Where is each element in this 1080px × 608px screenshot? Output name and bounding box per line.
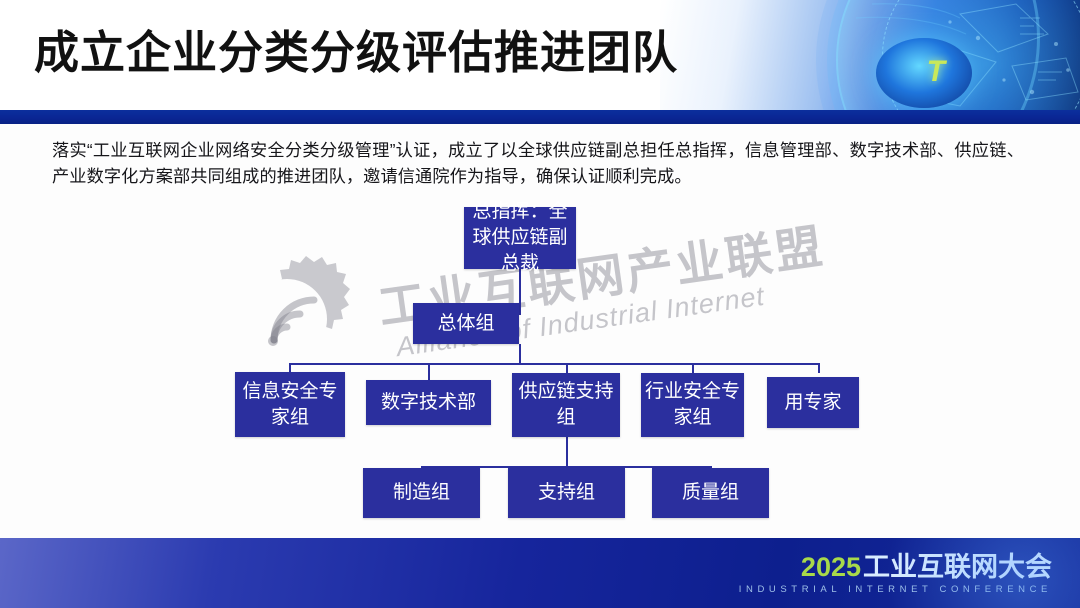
conference-logo-main: 2025工业互联网大会 [739,552,1052,582]
org-node-industry-security-experts[interactable]: 行业安全专家组 [641,373,744,437]
org-node-support-group[interactable]: 支持组 [508,468,625,518]
connector-drop-l3-3 [566,363,568,373]
conference-logo: 2025工业互联网大会 INDUSTRIAL INTERNET CONFEREN… [739,552,1052,595]
connector-l3-l4 [566,437,568,466]
org-node-info-security-experts[interactable]: 信息安全专家组 [235,372,345,437]
org-node-supply-chain-support[interactable]: 供应链支持组 [512,373,620,437]
org-node-manufacturing-group[interactable]: 制造组 [363,468,480,518]
connector-bus-l3 [289,363,819,365]
org-node-commander[interactable]: 总指挥：全球供应链副总裁 [464,207,576,269]
conference-year: 2025 [801,552,861,582]
org-node-digital-tech-dept[interactable]: 数字技术部 [366,380,491,425]
org-node-applied-experts[interactable]: 用专家 [767,377,859,428]
connector-drop-l3-5 [818,363,820,373]
connector-l2-bus [519,344,521,363]
slide-footer: 2025工业互联网大会 INDUSTRIAL INTERNET CONFEREN… [0,538,1080,608]
org-node-quality-group[interactable]: 质量组 [652,468,769,518]
conference-name-en: INDUSTRIAL INTERNET CONFERENCE [739,584,1052,595]
connector-drop-l3-2 [428,363,430,380]
connector-drop-l3-4 [692,363,694,373]
org-node-general-group[interactable]: 总体组 [413,303,519,344]
conference-name-cn: 工业互联网大会 [863,552,1052,582]
org-chart: 总指挥：全球供应链副总裁 总体组 信息安全专家组 数字技术部 供应链支持组 行业… [0,0,1080,608]
slide-root: T 成立企业分类分级评估推进团队 落实“工业互联网企业网络安全分类分级管理”认证… [0,0,1080,608]
